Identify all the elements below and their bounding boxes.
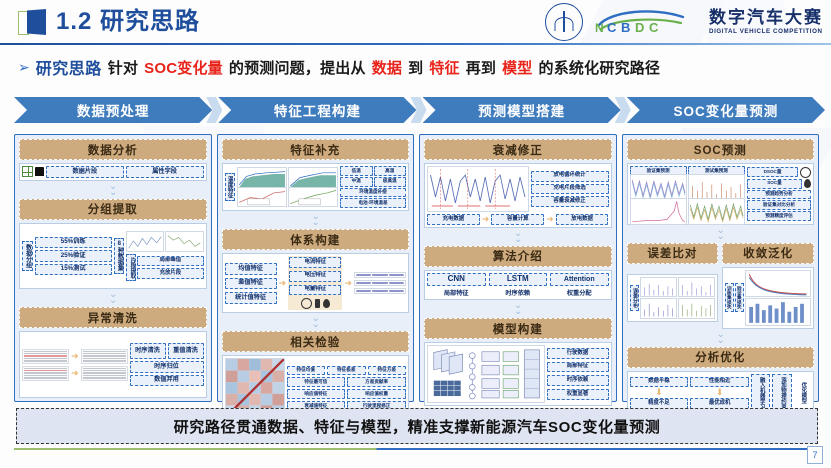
tag-feature-range[interactable]: 特征极差 bbox=[327, 366, 366, 376]
tag-ambient-temp-compensation[interactable]: 环境温度补偿 bbox=[340, 188, 406, 198]
tag-dsoc-value[interactable]: DSOC量 bbox=[747, 167, 798, 177]
tag-local-peak[interactable]: 局部峰值 bbox=[137, 256, 203, 267]
tag-extreme-temp[interactable]: 极高温 bbox=[374, 177, 407, 187]
section-body-system-build: 均值特征 差值特征 统计值特征 ➜ 电流特征 电压特征 电量特征 bbox=[222, 253, 410, 313]
tag-statistic-feature[interactable]: 统计值特征 bbox=[225, 292, 277, 304]
arrow-down-icon-2: ⬇ bbox=[690, 388, 749, 397]
vtag-train-loss: 训练集损失 bbox=[725, 283, 734, 312]
tag-soc-value[interactable]: SOC量 bbox=[747, 179, 802, 189]
model-architecture-diagram bbox=[427, 345, 545, 403]
section-caption-system-build: 体系构建 bbox=[222, 229, 410, 250]
tag-timeseries-clean[interactable]: 时序清洗 bbox=[130, 343, 166, 360]
tag-current-feature[interactable]: 电流特征 bbox=[289, 257, 341, 268]
section-caption-soc-prediction: SOC预测 bbox=[627, 139, 815, 160]
chart-thumbnail-loss-bars bbox=[745, 298, 811, 325]
section-body-soc-prediction: 验证集预测 测试集预测 bbox=[627, 163, 815, 225]
section-caption-convergence: 收敛泛化 bbox=[722, 243, 814, 264]
logo-group: C B D C N 数字汽车大赛 DIGITAL VEHICLE COMPETI… bbox=[545, 3, 823, 41]
tag-trend-analysis[interactable]: 预测趋势分析 bbox=[747, 190, 811, 200]
footer-divider bbox=[14, 448, 820, 450]
tag-accuracy-evaluation[interactable]: 预测精度评估 bbox=[747, 211, 811, 221]
section-body-data-analysis: 数据片段 属性字段 bbox=[19, 163, 207, 181]
tag-data-stable[interactable]: 数据平稳 bbox=[630, 377, 689, 388]
section-caption-anomaly-clean: 异常清洗 bbox=[19, 307, 207, 328]
clock-icon bbox=[301, 298, 312, 309]
chart-thumbnail-soc-d bbox=[688, 198, 745, 225]
location-pin-icon-2 bbox=[804, 179, 811, 188]
bullet-seg1: 针对 bbox=[108, 57, 138, 78]
feature-matrix-c bbox=[354, 288, 406, 294]
chart-thumbnail-temp-c bbox=[237, 187, 287, 207]
header-divider bbox=[0, 43, 831, 45]
tag-response-feature[interactable]: 响应值特征 bbox=[287, 389, 346, 399]
tag-valid-split[interactable]: 25%验证 bbox=[35, 250, 112, 262]
down-arrow-7: ⌄⌄ bbox=[627, 228, 815, 240]
chart-thumbnail-err-a bbox=[640, 277, 677, 298]
chart-thumbnail-err-c bbox=[640, 298, 677, 319]
tag-algo-attention[interactable]: Attention bbox=[550, 273, 609, 285]
grid-icon bbox=[22, 166, 33, 177]
tag-charge-segment-filter[interactable]: 充电片段筛选 bbox=[531, 184, 609, 195]
bullet-marker-icon: ➢ bbox=[18, 59, 30, 76]
vtag-segment-extract: 片段提取 bbox=[126, 254, 136, 282]
chart-thumbnail-soc-c bbox=[630, 198, 687, 225]
tag-voltage-feature[interactable]: 电压特征 bbox=[289, 271, 341, 282]
chart-thumbnail-temp-d bbox=[288, 187, 338, 207]
feature-matrix-b bbox=[354, 280, 406, 286]
desc-algo-cnn: 局部特征 bbox=[427, 288, 486, 297]
tag-value-discard[interactable]: 数值弃用 bbox=[130, 375, 204, 387]
ncbdc-logo-icon: C B D C N bbox=[591, 5, 701, 39]
bullet-line: ➢ 研究思路 针对 SOC变化量 的预测问题，提出从 数据 到 特征 再到 模型… bbox=[18, 54, 818, 80]
tag-weight-significance[interactable]: 权重显著 bbox=[547, 389, 609, 400]
svg-text:C: C bbox=[649, 20, 659, 35]
page-title: 1.2 研究思路 bbox=[56, 6, 200, 38]
table-image-b bbox=[81, 349, 128, 364]
tag-test-split[interactable]: 15%测试 bbox=[35, 264, 112, 276]
section-caption-group-extract: 分组提取 bbox=[19, 199, 207, 220]
tag-temporal-dependency[interactable]: 时序依赖 bbox=[547, 375, 609, 386]
chevron-step-4[interactable]: SOC变化量预测 bbox=[627, 97, 825, 123]
tag-feature-variance[interactable]: 特征方差 bbox=[368, 366, 407, 376]
bullet-keyword: 研究思路 bbox=[36, 55, 102, 79]
tag-algo-lstm[interactable]: LSTM bbox=[489, 273, 548, 286]
arrow-right-icon-2: ➜ bbox=[71, 369, 79, 378]
tag-feature-reliability[interactable]: 特征最可信 bbox=[287, 377, 346, 387]
section-body-feature-supplement: 温度特征 bbox=[222, 163, 410, 211]
panel-container: 数据分析 数据片段 属性字段 ⌄⌄ 分组提取 数据分组 55%训练 25%验证 … bbox=[14, 134, 819, 402]
chart-thumbnail-curve-a bbox=[126, 231, 164, 253]
panel-feature-engineering: 特征补充 温度特征 bbox=[217, 134, 415, 402]
bullet-highlight-feature: 特征 bbox=[429, 57, 459, 78]
arrow-right-icon-4: ➜ bbox=[344, 279, 352, 288]
tag-algo-cnn[interactable]: CNN bbox=[427, 273, 486, 286]
tag-performance-similar[interactable]: 性能相近 bbox=[690, 377, 749, 388]
bullet-seg4: 再到 bbox=[466, 57, 496, 78]
university-logo-icon bbox=[545, 3, 583, 41]
down-arrow-3: ⌄⌄ bbox=[222, 214, 410, 226]
section-body-algorithm-intro: CNN 局部特征 LSTM 时序依赖 Attention 权重分配 bbox=[424, 270, 612, 300]
vtag-error-distribution: 误差分布 bbox=[630, 285, 640, 311]
brand-name-en: DIGITAL VEHICLE COMPETITION bbox=[709, 29, 823, 35]
brand-text: 数字汽车大赛 DIGITAL VEHICLE COMPETITION bbox=[709, 9, 823, 35]
bullet-seg3: 到 bbox=[408, 57, 423, 78]
svg-text:D: D bbox=[635, 20, 644, 35]
chart-thumbnail-discharge-cycles bbox=[427, 166, 529, 212]
settings-icon bbox=[800, 167, 811, 178]
table-image-c bbox=[22, 366, 69, 381]
svg-text:N: N bbox=[595, 21, 604, 35]
tag-mid-temp[interactable]: 中温 bbox=[340, 177, 373, 187]
tag-charge-discharge-segment[interactable]: 充放片段 bbox=[137, 268, 203, 279]
down-arrow-4: ⌄⌄ bbox=[222, 316, 410, 328]
section-caption-algorithm-intro: 算法介绍 bbox=[424, 246, 612, 267]
desc-algo-lstm: 时序依赖 bbox=[489, 288, 548, 297]
section-body-anomaly-clean: ➜ ➜ 时序清洗 重值清洗 bbox=[19, 331, 207, 398]
section-body-model-build: 行驶数据 局部特征 时序依赖 权重显著 bbox=[424, 342, 612, 406]
section-body-error-compare: 误差分布 bbox=[627, 274, 719, 322]
section-caption-data-analysis: 数据分析 bbox=[19, 139, 207, 160]
chart-thumbnail-loss-curve bbox=[745, 270, 811, 297]
down-arrow-6: ⌄⌄ bbox=[424, 303, 612, 315]
chart-thumbnail-curve-b bbox=[165, 231, 203, 253]
tag-discharge-data[interactable]: 放电数据 bbox=[556, 214, 609, 225]
brand-name-cn: 数字汽车大赛 bbox=[709, 9, 823, 26]
svg-text:C: C bbox=[607, 20, 617, 35]
summary-banner: 研究路径贯通数据、特征与模型，精准支撑新能源汽车SOC变化量预测 bbox=[16, 408, 818, 444]
bullet-seg5: 的系统化研究路径 bbox=[539, 57, 661, 78]
vtag-model-optimization: 优化模型 bbox=[794, 380, 811, 406]
tag-response-weight[interactable]: 响应值权重 bbox=[347, 389, 406, 399]
vtag-temperature-feature: 温度特征 bbox=[225, 173, 235, 201]
tag-duplicate-clean[interactable]: 重值清洗 bbox=[168, 343, 204, 360]
section-caption-model-build: 模型构建 bbox=[424, 318, 612, 339]
vtag-dataset-count: 8种数据集 bbox=[114, 238, 125, 274]
chart-thumbnail-err-b bbox=[678, 277, 715, 298]
vtag-valid-loss: 验证集损失 bbox=[735, 283, 744, 312]
section-caption-feature-supplement: 特征补充 bbox=[222, 139, 410, 160]
section-body-group-extract: 数据分组 55%训练 25%验证 15%测试 8种数据集 bbox=[19, 223, 207, 290]
chevron-step-2[interactable]: 特征工程构建 bbox=[218, 97, 416, 123]
chart-thumbnail-err-d bbox=[678, 298, 715, 319]
tag-high-temp[interactable]: 高温 bbox=[374, 166, 407, 176]
arrow-right-icon-3: ➜ bbox=[279, 279, 287, 288]
tag-train-split[interactable]: 55%训练 bbox=[35, 237, 112, 249]
process-chevron-band: 数据预处理 特征工程构建 预测模型搭建 SOC变化量预测 bbox=[14, 96, 819, 124]
table-image-a bbox=[22, 349, 69, 364]
arrow-right-icon-1: ➜ bbox=[71, 352, 79, 361]
section-caption-correlation-test: 相关检验 bbox=[222, 331, 410, 352]
arrow-down-icon-1: ⬇ bbox=[630, 388, 689, 397]
bullet-highlight-soc: SOC变化量 bbox=[144, 57, 223, 78]
arrow-right-icon-6: ➜ bbox=[546, 215, 554, 224]
svg-text:B: B bbox=[621, 20, 630, 35]
arrow-right-icon-5: ➜ bbox=[482, 215, 490, 224]
vtag-ml-integration: 融入机器学习 bbox=[751, 374, 770, 412]
tag-capacity-feature[interactable]: 电量特征 bbox=[289, 285, 341, 296]
section-caption-analysis-optimization: 分析优化 bbox=[627, 347, 815, 368]
section-caption-error-compare: 误差比对 bbox=[627, 243, 719, 264]
chevron-step-1[interactable]: 数据预处理 bbox=[14, 97, 212, 123]
down-arrow-5: ⌄⌄ bbox=[424, 231, 612, 243]
bullet-seg2: 的预测问题，提出从 bbox=[229, 57, 366, 78]
tag-battery-ambient-diff[interactable]: 电池-环境温差 bbox=[340, 198, 406, 208]
tag-local-feature[interactable]: 局部特征 bbox=[547, 362, 609, 373]
section-body-decay-correction: 放电循环统计 充电片段筛选 容量衰减修正 充电数据 ➜ 容量计算 ➜ 放电数据 bbox=[424, 163, 612, 228]
tag-driving-data[interactable]: 行驶数据 bbox=[547, 348, 609, 359]
chevron-step-3[interactable]: 预测模型搭建 bbox=[423, 97, 621, 123]
table-image-d bbox=[81, 366, 128, 381]
tag-attribute-field[interactable]: 属性字段 bbox=[126, 166, 204, 178]
tag-capacity-calc[interactable]: 容量计算 bbox=[491, 214, 544, 225]
tag-feature-mean[interactable]: 特征均值 bbox=[287, 366, 326, 376]
down-arrow-1: ⌄⌄ bbox=[19, 184, 207, 196]
panel-soc-prediction: SOC预测 验证集预测 测试集预测 bbox=[622, 134, 820, 402]
bullet-highlight-model: 模型 bbox=[502, 57, 532, 78]
summary-banner-text: 研究路径贯通数据、特征与模型，精准支撑新能源汽车SOC变化量预测 bbox=[174, 416, 661, 437]
down-arrow-8: ⌄⌄ bbox=[627, 332, 815, 344]
bullet-highlight-data: 数据 bbox=[372, 57, 402, 78]
tag-mean-feature[interactable]: 均值特征 bbox=[225, 263, 277, 275]
tag-diff-feature[interactable]: 差值特征 bbox=[225, 278, 277, 290]
page-number: 7 bbox=[807, 446, 823, 464]
tag-timeseries-align[interactable]: 时序归位 bbox=[130, 361, 204, 373]
down-arrow-2: ⌄⌄ bbox=[19, 292, 207, 304]
location-pin-icon bbox=[323, 299, 330, 308]
feature-matrix-a bbox=[354, 272, 406, 278]
tag-capacity-decay-correction[interactable]: 容量衰减修正 bbox=[531, 196, 609, 207]
panel-data-preprocessing: 数据分析 数据片段 属性字段 ⌄⌄ 分组提取 数据分组 55%训练 25%验证 … bbox=[14, 134, 212, 402]
tag-discharge-cycle-stat[interactable]: 放电循环统计 bbox=[531, 171, 609, 182]
panel-prediction-model: 衰减修正 bbox=[419, 134, 617, 402]
tag-charge-data[interactable]: 充电数据 bbox=[427, 214, 480, 225]
vtag-physics-constraint: 添加物理约束 bbox=[772, 374, 791, 412]
desc-algo-attention: 权重分配 bbox=[550, 288, 609, 297]
section-body-convergence: 训练集损失 验证集损失 bbox=[722, 267, 814, 329]
slide-root: 1.2 研究思路 C B D C N 数字汽车大赛 DIGITAL VEHICL… bbox=[0, 0, 831, 468]
vtag-data-grouping: 数据分组 bbox=[22, 241, 33, 271]
tag-data-segment[interactable]: 数据片段 bbox=[46, 166, 124, 178]
tag-variance-contribution[interactable]: 方差贡献率 bbox=[347, 377, 406, 387]
tag-validation-compare[interactable]: 验证集对比分析 bbox=[747, 200, 811, 210]
book-icon bbox=[18, 9, 48, 35]
folder-icon bbox=[35, 167, 44, 176]
tag-low-temp[interactable]: 低温 bbox=[340, 166, 373, 176]
battery-icon bbox=[315, 299, 320, 308]
slide-header: 1.2 研究思路 C B D C N 数字汽车大赛 DIGITAL VEHICL… bbox=[0, 0, 831, 44]
section-caption-decay-correction: 衰减修正 bbox=[424, 139, 612, 160]
